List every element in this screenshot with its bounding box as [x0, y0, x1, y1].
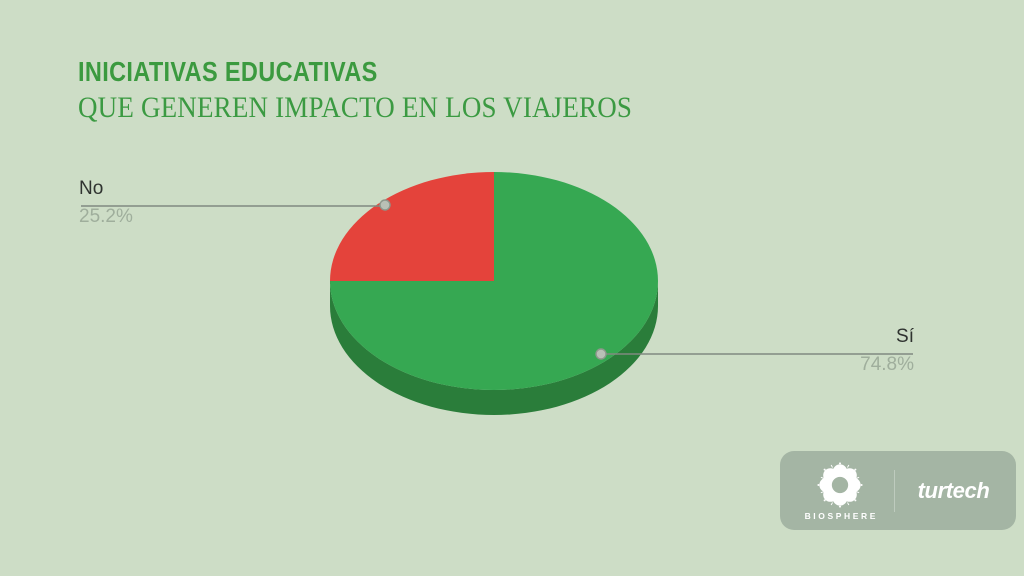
logo-panel: BIOSPHERE turtech: [780, 451, 1016, 530]
leader-lines: [81, 206, 913, 354]
biosphere-flower-icon: [816, 461, 864, 509]
biosphere-wordmark: BIOSPHERE: [802, 511, 878, 521]
page-subtitle: QUE GENEREN IMPACTO EN LOS VIAJEROS: [78, 91, 726, 125]
pie-slice-no: [330, 172, 494, 281]
callout-no: No 25.2%: [79, 179, 133, 226]
pie-side-yes: [330, 281, 658, 415]
callout-no-label: No: [79, 179, 133, 198]
leader-marker-no: [380, 200, 390, 210]
callout-no-value: 25.2%: [79, 207, 133, 226]
leader-markers: [380, 200, 606, 359]
callout-si-value: 74.8%: [860, 355, 914, 374]
chart-header: INICIATIVAS EDUCATIVAS QUE GENEREN IMPAC…: [78, 56, 798, 125]
biosphere-logo: BIOSPHERE: [786, 461, 894, 521]
pie-depth-group: [330, 281, 658, 415]
callout-si-label: Sí: [860, 327, 914, 346]
leader-marker-si: [596, 349, 606, 359]
logo-divider: [894, 470, 895, 512]
slide-canvas: INICIATIVAS EDUCATIVAS QUE GENEREN IMPAC…: [0, 0, 1024, 576]
turtech-logo: turtech: [897, 478, 1016, 504]
pie-slice-yes: [330, 172, 658, 390]
pie-top-face: [330, 172, 658, 390]
flower-center-hole: [832, 476, 848, 492]
callout-si: Sí 74.8%: [860, 327, 914, 374]
page-title: INICIATIVAS EDUCATIVAS: [78, 56, 683, 87]
turtech-wordmark: turtech: [918, 478, 990, 504]
pie-side-no: [330, 281, 331, 284]
